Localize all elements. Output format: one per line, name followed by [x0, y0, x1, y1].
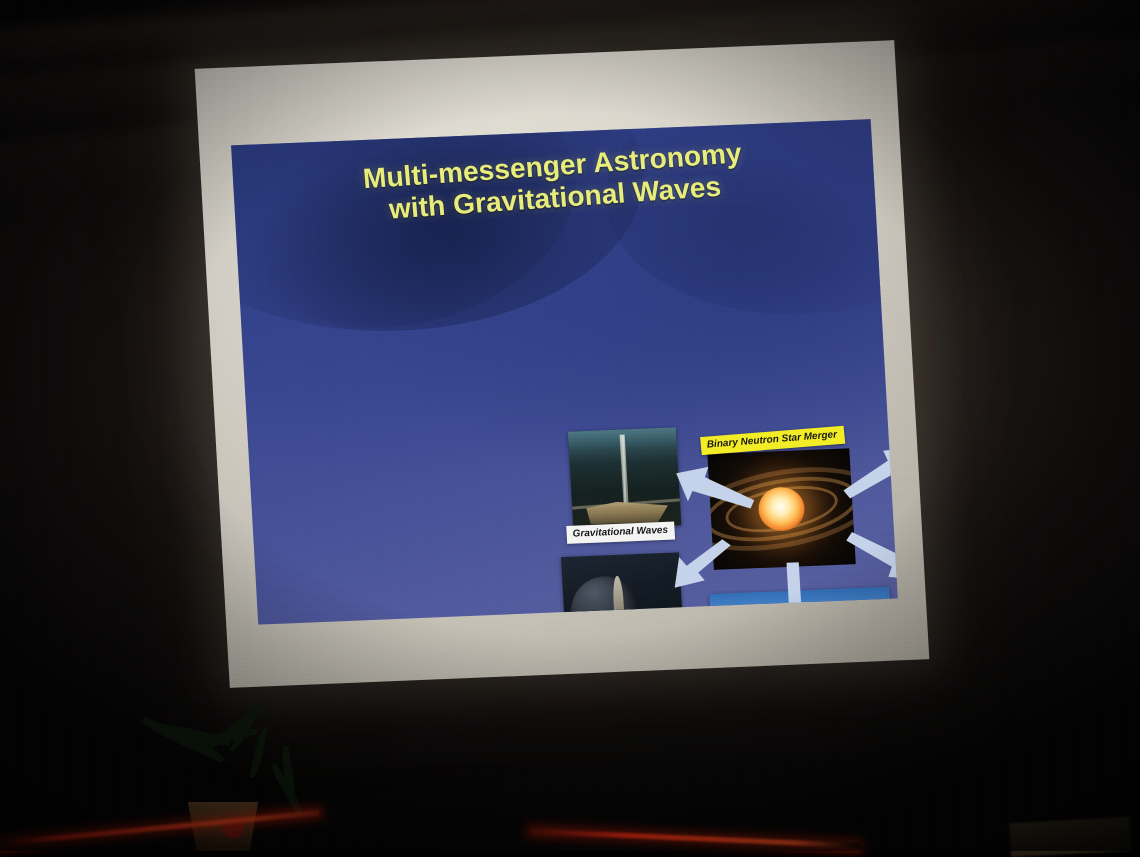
slide-title: Multi-messenger Astronomy with Gravitati… [232, 128, 876, 236]
projection-screen: Multi-messenger Astronomy with Gravitati… [195, 40, 930, 688]
ligo-interferometer-aerial-image [568, 427, 681, 529]
neutron-star-merger-illustration [707, 448, 855, 570]
presentation-slide: Multi-messenger Astronomy with Gravitati… [231, 119, 898, 624]
panel-label-gravitational-waves: Gravitational Waves [566, 521, 675, 543]
